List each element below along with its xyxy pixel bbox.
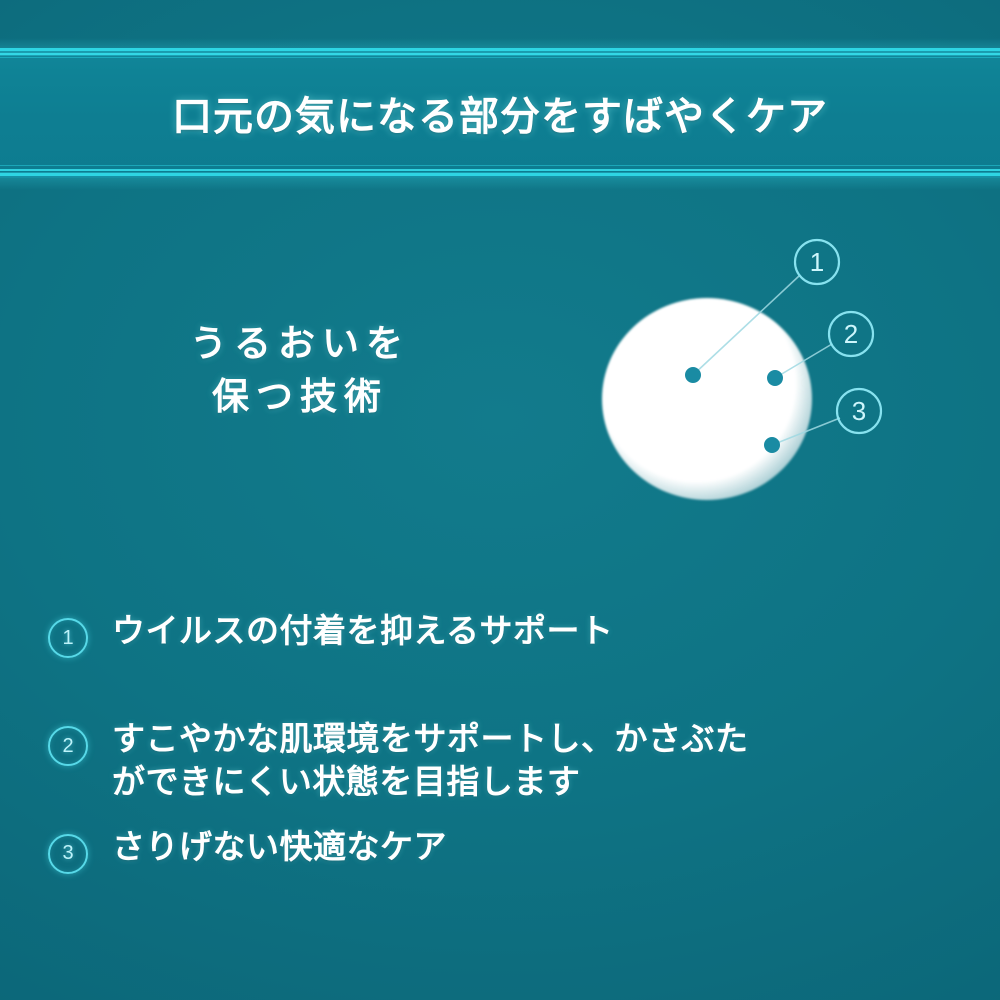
diagram-dot-1 [685, 367, 701, 383]
band-rule-bottom-3 [0, 165, 1000, 166]
callout-label-1: 1 [810, 247, 824, 277]
list-item: 2 すこやかな肌環境をサポートし、かさぶた ができにくい状態を目指します [48, 718, 968, 804]
band-rule-bottom-1 [0, 173, 1000, 176]
diagram-dot-3 [764, 437, 780, 453]
list-item-text-3: さりげない快適なケア [112, 826, 447, 869]
list-number-badge-3: 3 [48, 834, 88, 874]
list-item-3-line-1: さりげない快適なケア [112, 826, 447, 869]
lead-headline-line-2: 保つ技術 [140, 371, 460, 424]
list-item-text-2: すこやかな肌環境をサポートし、かさぶた ができにくい状態を目指します [112, 718, 749, 804]
list-item-text-1: ウイルスの付着を抑えるサポート [112, 610, 614, 653]
band-rule-bottom-2 [0, 169, 1000, 171]
list-item: 1 ウイルスの付着を抑えるサポート [48, 610, 968, 658]
list-number-badge-1: 1 [48, 618, 88, 658]
leader-line-1 [693, 276, 799, 375]
band-rule-top-3 [0, 57, 1000, 58]
list-number-badge-2: 2 [48, 726, 88, 766]
band-rule-top-2 [0, 53, 1000, 55]
skin-diagram: 1 2 3 [560, 210, 980, 520]
leader-line-2 [775, 344, 832, 378]
lead-headline: うるおいを 保つ技術 [140, 318, 460, 423]
lead-headline-line-1: うるおいを [190, 323, 410, 364]
diagram-vector-layer: 1 2 3 [560, 210, 980, 520]
leader-line-3 [772, 418, 840, 445]
list-item-1-line-1: ウイルスの付着を抑えるサポート [112, 610, 614, 653]
benefit-list: 1 ウイルスの付着を抑えるサポート 2 すこやかな肌環境をサポートし、かさぶた … [48, 610, 968, 908]
callout-label-2: 2 [844, 319, 858, 349]
poster-canvas: 口元の気になる部分をすばやくケア うるおいを 保つ技術 1 2 3 [0, 0, 1000, 1000]
page-title: 口元の気になる部分をすばやくケア [0, 84, 1000, 142]
band-rule-top-1 [0, 48, 1000, 51]
list-item-2-line-1: すこやかな肌環境をサポートし、かさぶた [112, 718, 749, 761]
list-item: 3 さりげない快適なケア [48, 826, 968, 874]
list-item-2-line-2: ができにくい状態を目指します [112, 761, 749, 804]
diagram-dot-2 [767, 370, 783, 386]
callout-label-3: 3 [852, 396, 866, 426]
